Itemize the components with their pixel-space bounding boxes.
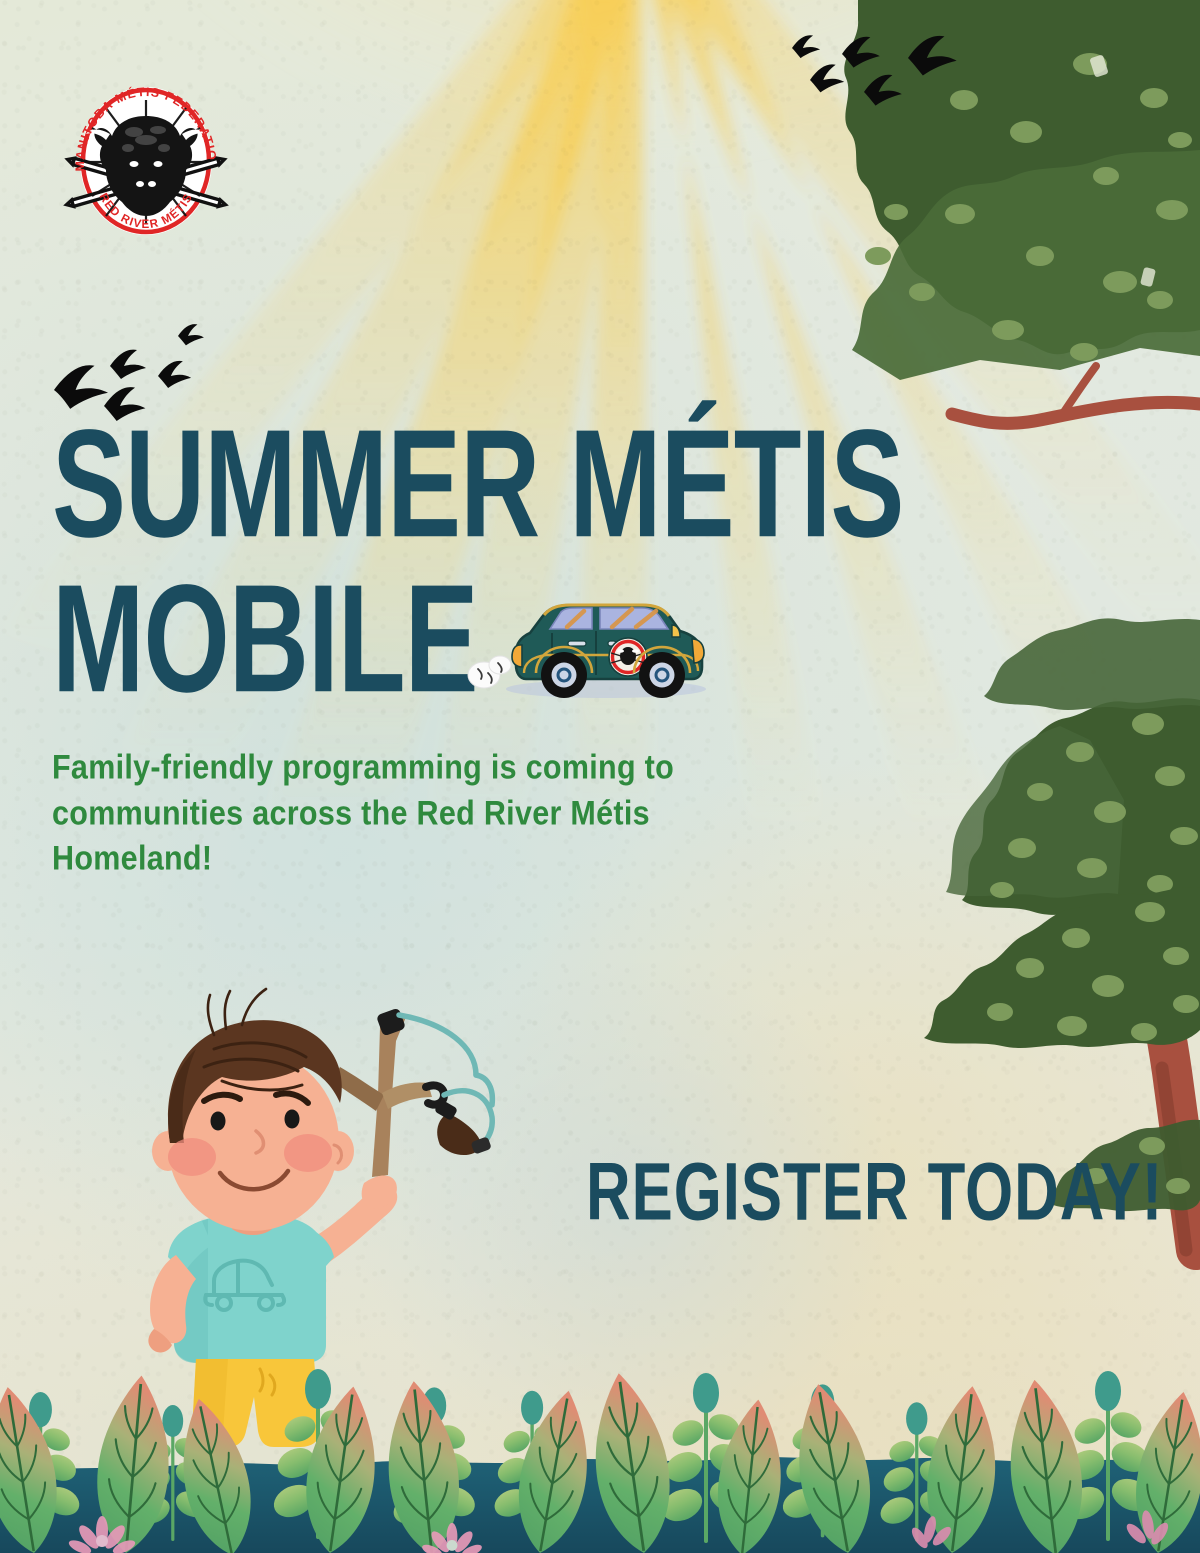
bird-icon [110, 350, 146, 379]
bird-icon [158, 361, 191, 388]
bird-icon [792, 35, 820, 58]
metis-mobile-car-icon [466, 567, 728, 701]
page-title: SUMMER MÉTIS MOBILE [52, 414, 872, 677]
title-line-1: SUMMER MÉTIS [52, 414, 823, 555]
exhaust-puff-icon [468, 656, 511, 688]
bird-icon [810, 64, 844, 92]
subtitle-text: Family-friendly programming is coming to… [52, 745, 812, 881]
bird-icon [864, 75, 902, 106]
register-today-text: REGISTER TODAY! [586, 1152, 1163, 1234]
poster-canvas: MANITOBA MÉTIS FEDERATION RED RIVER MÉTI… [0, 0, 1200, 1553]
car-wheel [541, 652, 587, 698]
car-wheel [639, 652, 685, 698]
birds-flock-right [784, 30, 964, 126]
manitoba-metis-federation-logo: MANITOBA MÉTIS FEDERATION RED RIVER MÉTI… [62, 78, 230, 240]
bird-icon [908, 36, 957, 76]
bottom-foliage-border [0, 1253, 1200, 1553]
bird-icon [842, 37, 880, 68]
slingshot-icon [332, 1008, 492, 1177]
bird-icon [178, 324, 204, 345]
